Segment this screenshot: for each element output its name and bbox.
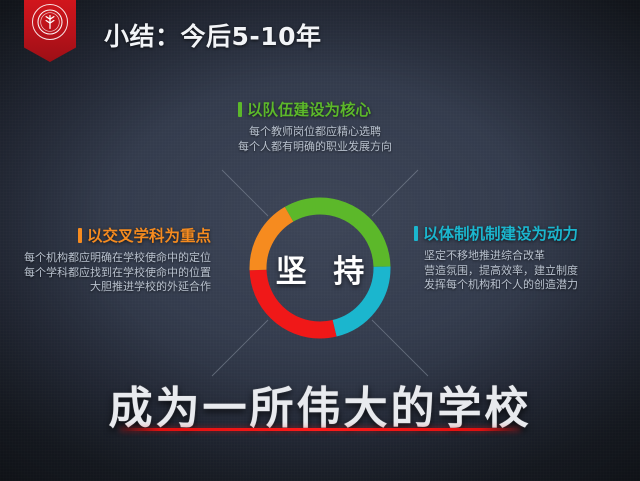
- page-title: 小结：今后5-10年: [104, 17, 322, 53]
- callout-left-heading: 以交叉学科为重点: [24, 224, 211, 246]
- callout-right-lines: 坚定不移地推进综合改革 营造氛围，提高效率，建立制度 发挥每个机构和个人的创造潜…: [414, 249, 578, 293]
- logo-ribbon: [24, 0, 76, 62]
- slide-header: 小结：今后5-10年: [0, 0, 640, 72]
- callout-top: 以队伍建设为核心 每个教师岗位都应精心选聘 每个人都有明确的职业发展方向: [238, 98, 392, 154]
- callout-top-heading-text: 以队伍建设为核心: [247, 98, 371, 120]
- callout-top-lines: 每个教师岗位都应精心选聘 每个人都有明确的职业发展方向: [238, 125, 392, 154]
- donut-center-label: 坚 持: [246, 194, 394, 342]
- callout-left: 以交叉学科为重点 每个机构都应明确在学校使命中的定位 每个学科都应找到在学校使命…: [24, 224, 211, 295]
- heading-marker-icon: [78, 228, 82, 243]
- callout-left-lines: 每个机构都应明确在学校使命中的定位 每个学科都应找到在学校使命中的位置 大胆推进…: [24, 251, 211, 295]
- callout-line: 每个机构都应明确在学校使命中的定位: [24, 251, 211, 266]
- callout-line: 坚定不移地推进综合改革: [424, 249, 578, 264]
- heading-marker-icon: [238, 102, 242, 117]
- callout-line: 每个人都有明确的职业发展方向: [238, 140, 392, 155]
- slide-canvas: 小结：今后5-10年 坚 持 以队伍建设为核心 每个教师岗位都应精心选聘 每个人: [0, 0, 640, 481]
- callout-line: 营造氛围，提高效率，建立制度: [424, 264, 578, 279]
- callout-right-heading: 以体制机制建设为动力: [414, 222, 578, 244]
- callout-line: 每个教师岗位都应精心选聘: [238, 125, 392, 140]
- callout-top-heading: 以队伍建设为核心: [238, 98, 392, 120]
- callout-line: 发挥每个机构和个人的创造潜力: [424, 278, 578, 293]
- callout-left-heading-text: 以交叉学科为重点: [87, 224, 211, 246]
- callout-right: 以体制机制建设为动力 坚定不移地推进综合改革 营造氛围，提高效率，建立制度 发挥…: [414, 222, 578, 293]
- callout-right-heading-text: 以体制机制建设为动力: [423, 222, 578, 244]
- heading-marker-icon: [414, 226, 418, 241]
- callout-line: 大胆推进学校的外延合作: [24, 280, 211, 295]
- footer-headline: 成为一所伟大的学校: [0, 372, 640, 436]
- center-donut: 坚 持: [246, 194, 394, 342]
- callout-line: 每个学科都应找到在学校使命中的位置: [24, 266, 211, 281]
- footer-headline-underline: [120, 428, 520, 431]
- peking-university-seal-icon: [32, 4, 68, 40]
